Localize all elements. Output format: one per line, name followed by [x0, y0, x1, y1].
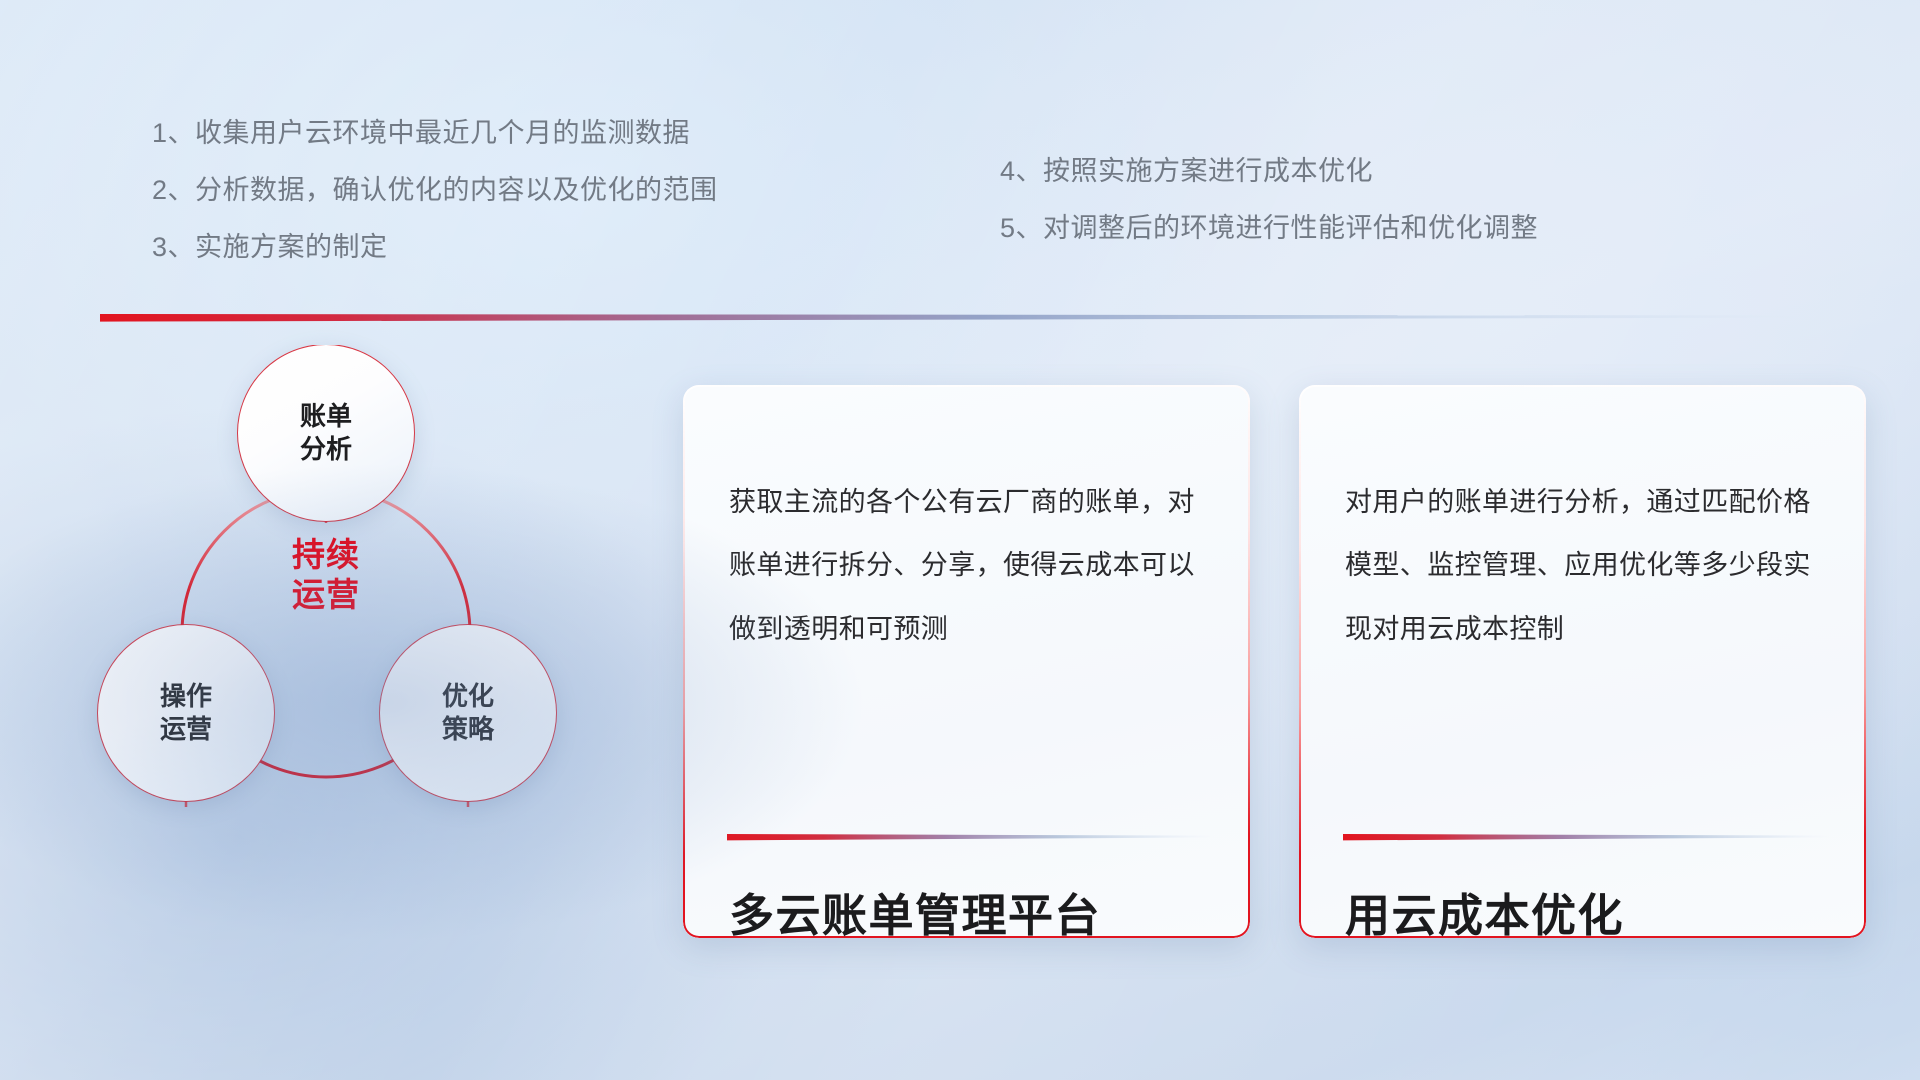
step-item-2: 2、分析数据，确认优化的内容以及优化的范围	[152, 177, 718, 204]
step-item-1: 1、收集用户云环境中最近几个月的监测数据	[152, 120, 718, 147]
diagram-center-label: 持续 运营	[233, 535, 419, 616]
center-label-line2: 运营	[233, 575, 419, 615]
continuous-operations-diagram: 账单 分析 操作 运营 优化 策略 持续 运营	[90, 345, 650, 945]
lobe-label-line1: 操作	[160, 680, 212, 713]
diagram-lobe-optimization-strategy[interactable]: 优化 策略	[380, 625, 556, 801]
lobe-label-line2: 运营	[160, 713, 212, 746]
card-multi-cloud-billing-platform[interactable]: 获取主流的各个公有云厂商的账单，对账单进行拆分、分享，使得云成本可以做到透明和可…	[683, 385, 1250, 938]
card-title: 用云成本优化	[1345, 879, 1836, 938]
lobe-label-line2: 分析	[300, 433, 352, 466]
card-body-text: 获取主流的各个公有云厂商的账单，对账单进行拆分、分享，使得云成本可以做到透明和可…	[729, 471, 1210, 661]
card-body-text: 对用户的账单进行分析，通过匹配价格模型、监控管理、应用优化等多少段实现对用云成本…	[1345, 471, 1826, 661]
card-title: 多云账单管理平台	[729, 879, 1220, 938]
step-item-4: 4、按照实施方案进行成本优化	[1000, 158, 1538, 185]
lobe-label-line2: 策略	[442, 713, 494, 746]
step-item-3: 3、实施方案的制定	[152, 234, 718, 261]
lobe-label-line1: 账单	[300, 400, 352, 433]
step-item-5: 5、对调整后的环境进行性能评估和优化调整	[1000, 215, 1538, 242]
steps-left-column: 1、收集用户云环境中最近几个月的监测数据 2、分析数据，确认优化的内容以及优化的…	[152, 120, 718, 261]
steps-right-column: 4、按照实施方案进行成本优化 5、对调整后的环境进行性能评估和优化调整	[1000, 158, 1538, 242]
lobe-label-line1: 优化	[442, 680, 494, 713]
center-label-line1: 持续	[233, 535, 419, 575]
diagram-lobe-operations[interactable]: 操作 运营	[98, 625, 274, 801]
slide-canvas: 1、收集用户云环境中最近几个月的监测数据 2、分析数据，确认优化的内容以及优化的…	[0, 0, 1920, 1080]
diagram-lobe-billing-analysis[interactable]: 账单 分析	[238, 345, 414, 521]
card-divider	[1343, 833, 1830, 841]
section-divider	[100, 312, 1800, 322]
card-cloud-cost-optimization[interactable]: 对用户的账单进行分析，通过匹配价格模型、监控管理、应用优化等多少段实现对用云成本…	[1299, 385, 1866, 938]
card-divider	[727, 833, 1214, 841]
